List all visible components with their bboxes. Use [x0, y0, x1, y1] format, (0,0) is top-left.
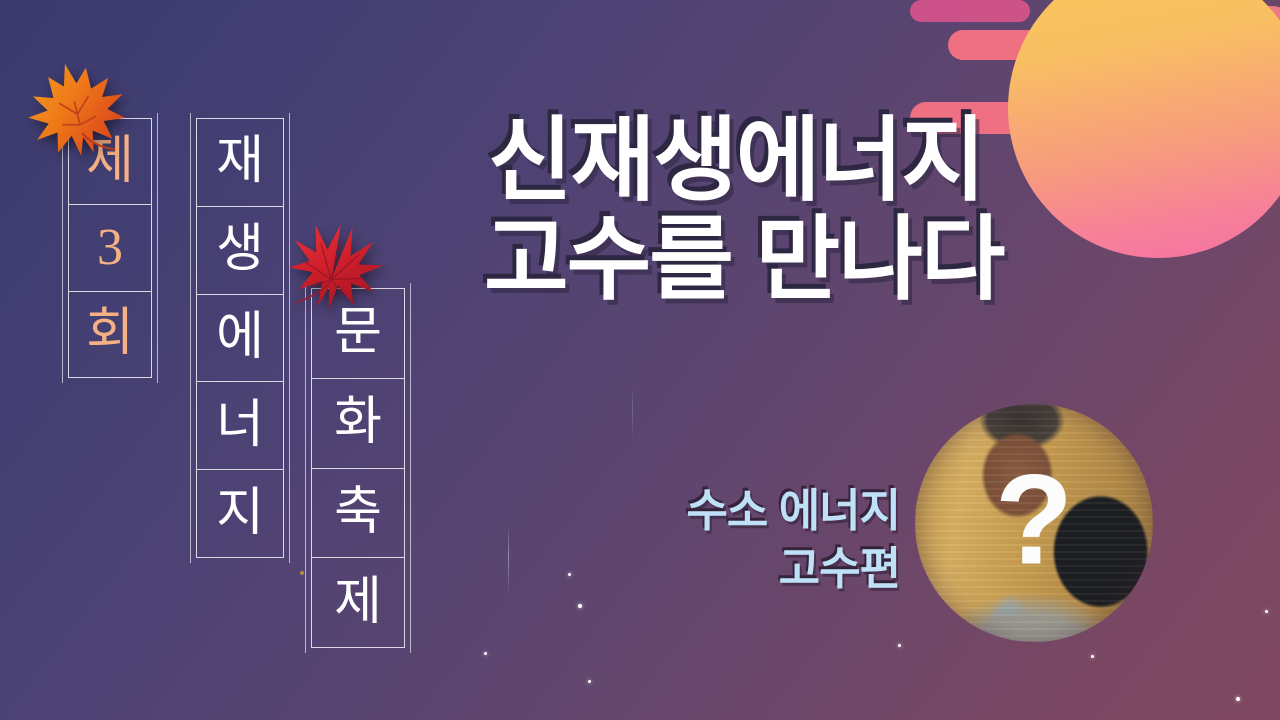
particle-dot [898, 644, 901, 647]
vcell-char: 축 [312, 469, 404, 559]
vcell-char: 너 [197, 382, 283, 470]
pink-bar-4 [910, 0, 1030, 22]
vcell-char: 생 [197, 207, 283, 295]
particle-dot [578, 604, 582, 608]
particle-dot [484, 652, 487, 655]
vcell-char: 화 [312, 379, 404, 469]
title-line-2: 고수를 만나다 [484, 211, 1188, 310]
guest-portrait-avatar: ? [915, 404, 1153, 642]
particle-dot [568, 573, 571, 576]
particle-dot [588, 680, 591, 683]
vcell-char: 3 [69, 205, 151, 291]
subtitle: 수소 에너지 고수편 [580, 482, 900, 597]
particle-streak [508, 524, 509, 596]
orange-maple-leaf-icon [22, 58, 134, 166]
vcell-char: 제 [312, 558, 404, 647]
vcell-char: 회 [69, 292, 151, 377]
title-line-1: 신재생에너지 [488, 112, 1188, 211]
renewable-energy-column: 재 생 에 너 지 [196, 118, 284, 558]
vcell-char: 지 [197, 470, 283, 557]
page-title: 신재생에너지 고수를 만나다 [488, 112, 1188, 311]
subtitle-line-2: 고수편 [580, 540, 900, 598]
poster-canvas: 제 3 회 재 생 에 너 지 문 화 축 제 [0, 0, 1280, 720]
particle-dot [1091, 655, 1094, 658]
vcell-char: 재 [197, 119, 283, 207]
vcell-char: 에 [197, 295, 283, 383]
red-maple-leaf-icon [283, 218, 385, 318]
subtitle-line-1: 수소 에너지 [580, 482, 900, 540]
culture-festival-column: 문 화 축 제 [311, 288, 405, 648]
particle-dot [1265, 610, 1268, 613]
question-mark-icon: ? [995, 456, 1073, 584]
particle-dot [300, 571, 304, 575]
particle-streak [632, 386, 633, 440]
particle-dot [1236, 697, 1240, 701]
